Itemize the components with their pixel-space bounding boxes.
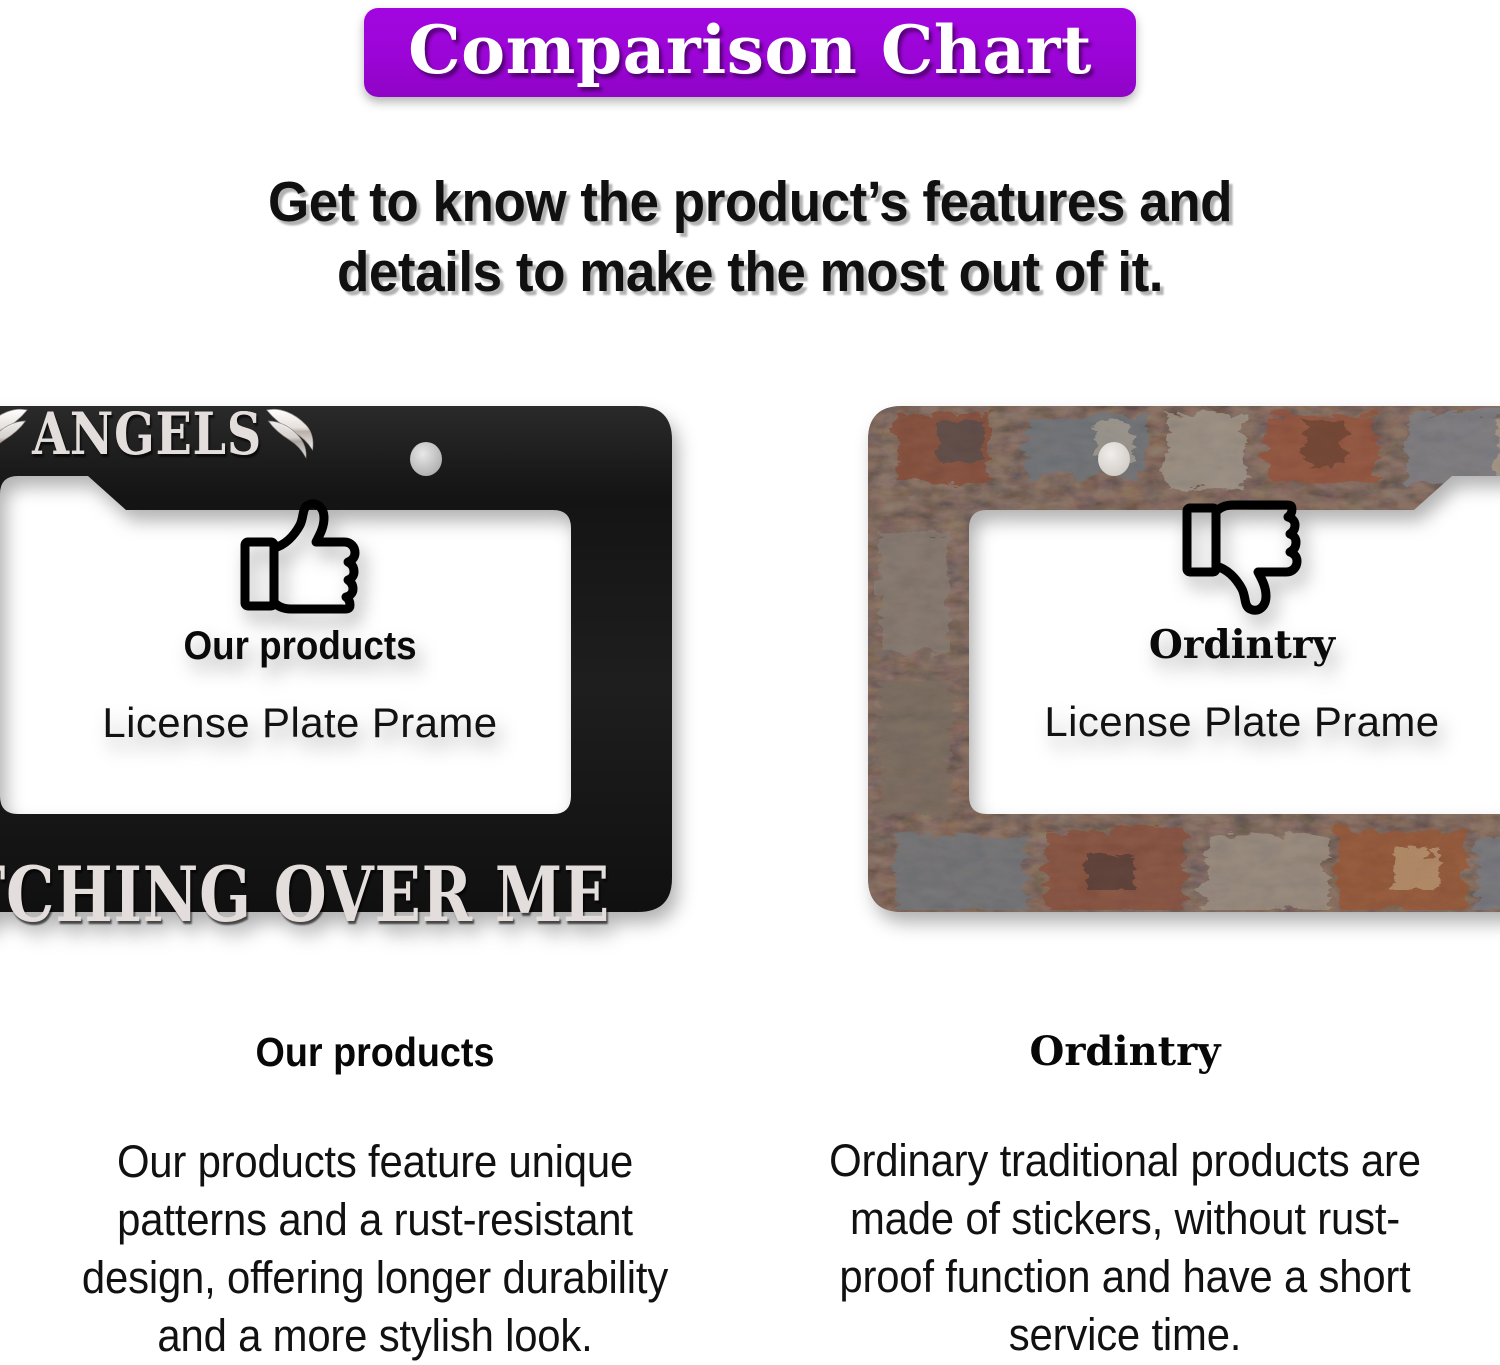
ordinary-product-plate-frame: Ordintry License Plate Prame bbox=[832, 378, 1500, 936]
our-product-description-column: Our products Our products feature unique… bbox=[0, 1032, 750, 1365]
ordinary-plate-shape bbox=[832, 378, 1500, 936]
ordinary-product-column-body: Ordinary traditional products are made o… bbox=[818, 1132, 1432, 1364]
ordinary-product-description-column: Ordintry Ordinary traditional products a… bbox=[750, 1032, 1500, 1365]
our-product-plate-frame: ANGELS TCHING OVER ME Our products Licen… bbox=[0, 378, 708, 936]
mounting-hole-icon bbox=[410, 442, 442, 476]
mounting-hole-icon bbox=[1098, 442, 1130, 476]
our-plate-body bbox=[0, 406, 672, 912]
our-product-column-body: Our products feature unique patterns and… bbox=[68, 1133, 682, 1365]
our-plate-shape bbox=[0, 378, 708, 936]
ordinary-product-column-title: Ordintry bbox=[795, 1032, 1455, 1072]
our-product-column-title: Our products bbox=[71, 1032, 678, 1073]
comparison-description-columns: Our products Our products feature unique… bbox=[0, 1032, 1500, 1365]
ordinary-plate-body bbox=[832, 378, 1500, 936]
